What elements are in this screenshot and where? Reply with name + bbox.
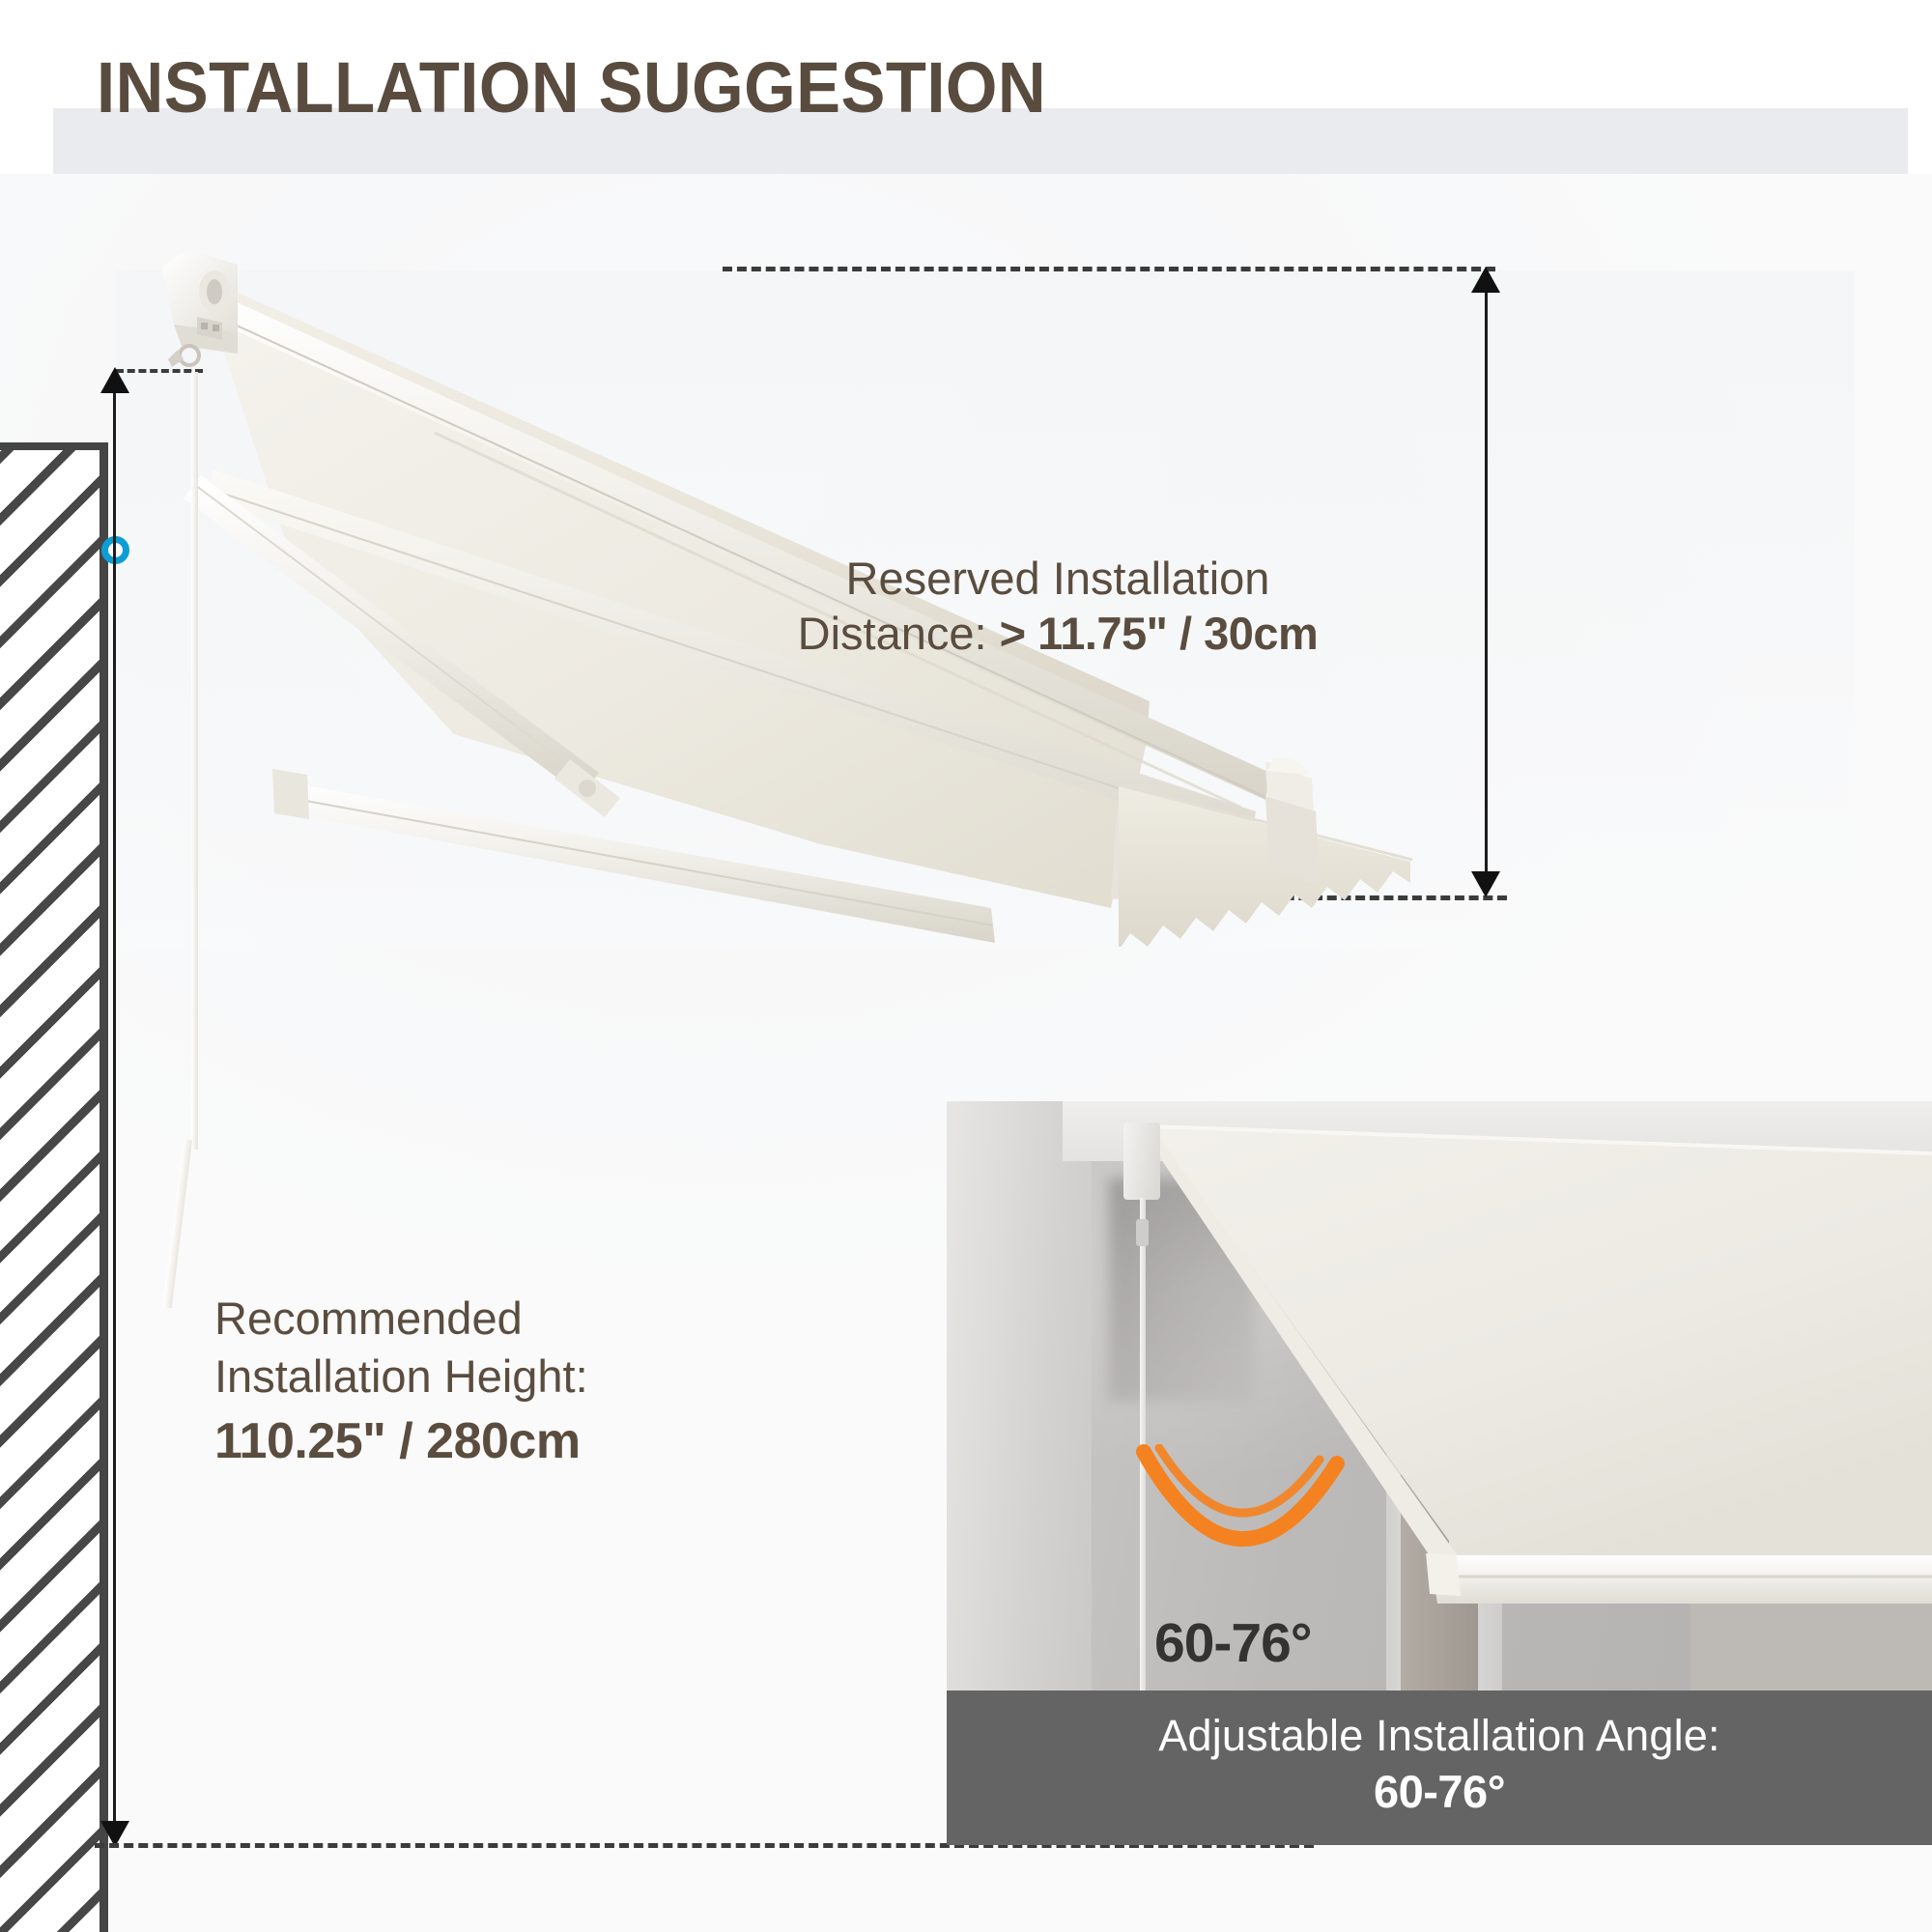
- photo-wall-bracket: [1123, 1122, 1160, 1200]
- installation-suggestion-infographic: INSTALLATION SUGGESTION: [0, 0, 1932, 1932]
- reserved-distance-value: > 11.75" / 30cm: [1000, 608, 1319, 659]
- caption-label: Adjustable Installation Angle:: [1158, 1712, 1719, 1760]
- photo-awning-canopy: [947, 1101, 1932, 1690]
- arrow-up-icon: [100, 367, 129, 393]
- reserved-distance-label: Reserved Installation Distance: > 11.75"…: [676, 551, 1439, 662]
- installation-angle-photo: 60-76°: [947, 1101, 1932, 1690]
- reserved-distance-line1: Reserved Installation: [846, 553, 1270, 604]
- recommended-height-value: 110.25" / 280cm: [214, 1409, 794, 1474]
- recommended-height-line2: Installation Height:: [214, 1350, 588, 1402]
- installation-angle-caption: Adjustable Installation Angle: 60-76°: [947, 1690, 1932, 1845]
- wall-cross-section: [0, 442, 108, 1932]
- hatch-pattern-icon: [0, 450, 99, 1932]
- page-title: INSTALLATION SUGGESTION: [97, 46, 1046, 128]
- photo-rod-coupling: [1136, 1219, 1149, 1246]
- diagram-canvas: Reserved Installation Distance: > 11.75"…: [0, 174, 1932, 1932]
- recommended-height-line1: Recommended: [214, 1293, 523, 1344]
- height-dimension-line: [113, 388, 116, 1828]
- recommended-height-label: Recommended Installation Height: 110.25"…: [214, 1290, 794, 1474]
- reserved-distance-prefix: Distance:: [798, 608, 1000, 659]
- crank-rod: [191, 372, 198, 1150]
- crank-rod-bend: [163, 1139, 192, 1308]
- angle-arc-icon: [1130, 1444, 1352, 1584]
- photo-angle-overlay-text: 60-76°: [1154, 1611, 1312, 1675]
- caption-value: 60-76°: [1374, 1765, 1505, 1818]
